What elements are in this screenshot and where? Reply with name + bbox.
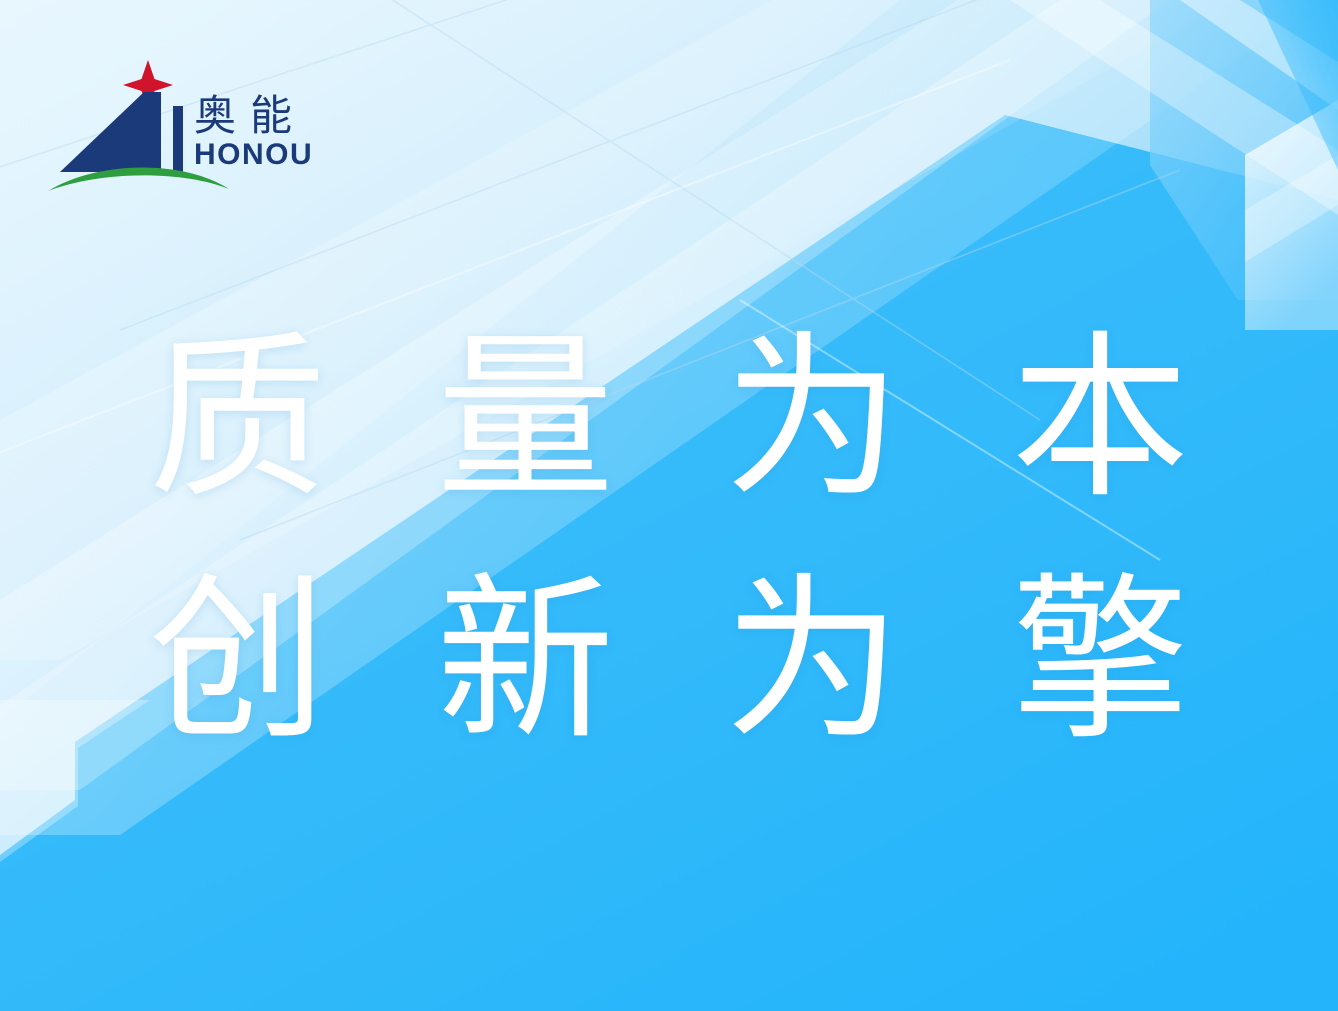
a-mark-upright-icon <box>145 92 161 172</box>
logo-chinese-name: 奥能 <box>194 92 306 139</box>
company-logo[interactable]: 奥能 HONOUR <box>44 52 314 202</box>
banner-canvas: 奥能 HONOUR 质 量 为 本 创 新 为 擎 <box>0 0 1338 1011</box>
logo-english-name: HONOUR <box>194 138 314 171</box>
logo-graphic: 奥能 HONOUR <box>44 52 314 202</box>
a-mark-thin-bar-icon <box>173 106 183 172</box>
